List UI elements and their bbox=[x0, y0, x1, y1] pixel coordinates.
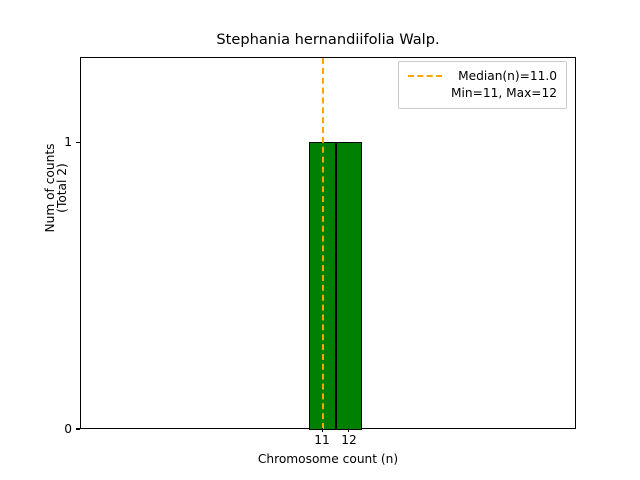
page-title: Stephania hernandiifolia Walp. bbox=[80, 31, 576, 48]
bar-12 bbox=[336, 142, 363, 430]
x-tick-mark-11 bbox=[322, 428, 323, 432]
median-line-swatch-icon bbox=[408, 69, 442, 84]
y-axis-label-total: (Total 2) bbox=[55, 2, 69, 374]
legend-entry-median: Median(n)=11.0 bbox=[451, 68, 557, 85]
legend: Median(n)=11.0 Min=11, Max=12 bbox=[398, 61, 567, 109]
chart-figure: Stephania hernandiifolia Walp. Num of co… bbox=[0, 0, 640, 480]
y-tick-label-0: 0 bbox=[44, 423, 72, 435]
y-tick-label-1: 1 bbox=[44, 136, 72, 148]
median-line bbox=[322, 58, 324, 429]
plot-area: Median(n)=11.0 Min=11, Max=12 bbox=[80, 57, 576, 429]
x-tick-mark-12 bbox=[348, 428, 349, 432]
x-axis-label: Chromosome count (n) bbox=[80, 452, 576, 466]
x-tick-label-12: 12 bbox=[331, 434, 367, 446]
legend-entry-minmax: Min=11, Max=12 bbox=[451, 85, 557, 102]
legend-text: Median(n)=11.0 Min=11, Max=12 bbox=[451, 68, 557, 102]
